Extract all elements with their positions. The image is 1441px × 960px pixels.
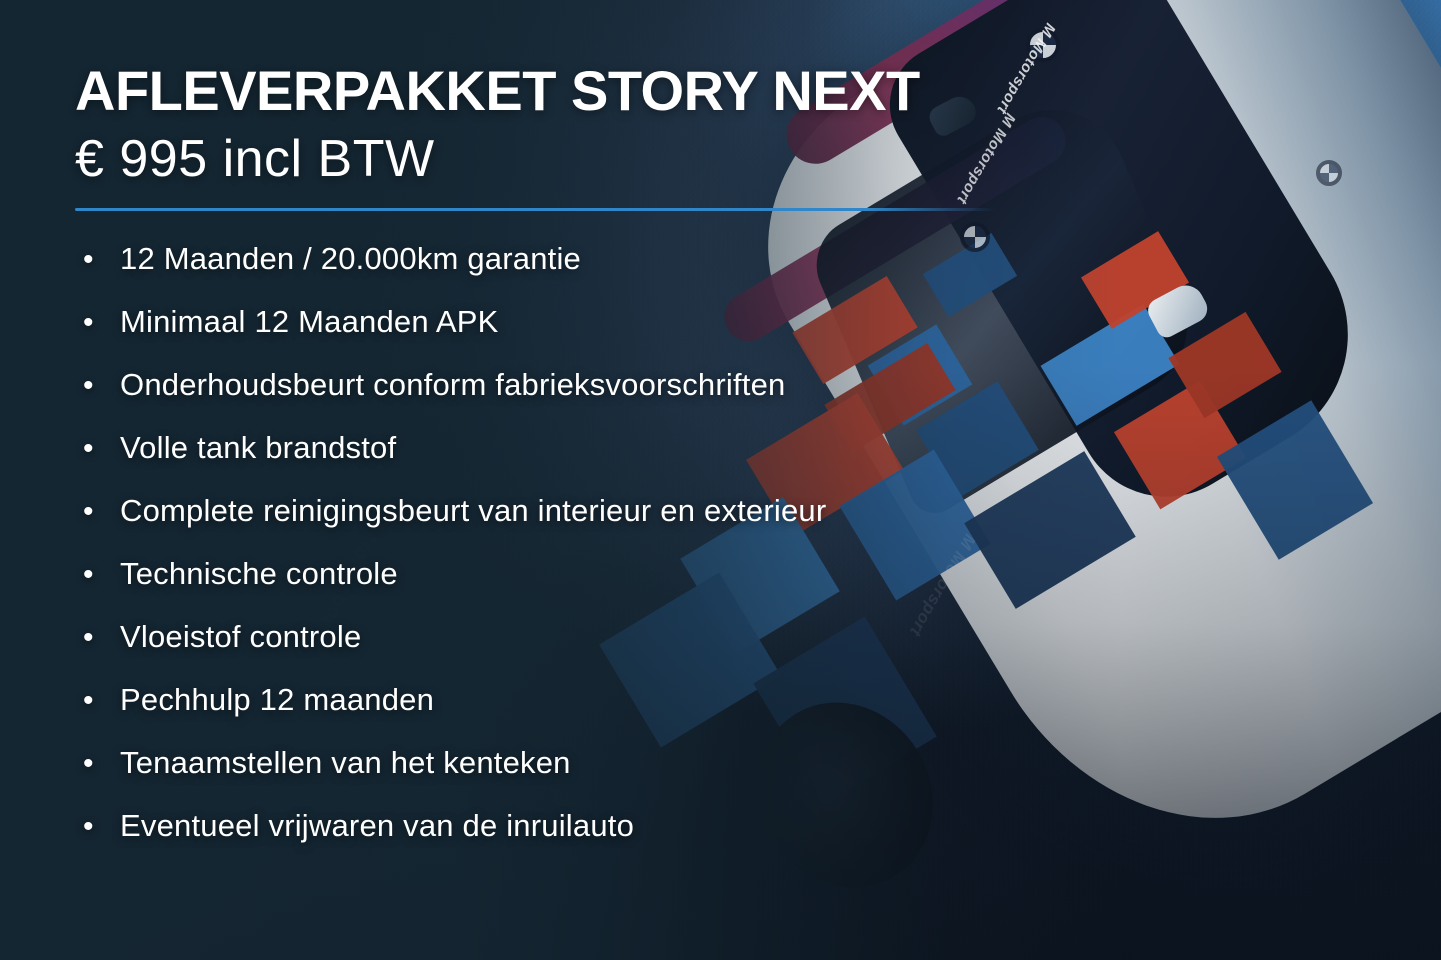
list-item: • Volle tank brandstof (75, 430, 1135, 493)
list-item: • Eventueel vrijwaren van de inruilauto (75, 808, 1135, 871)
package-feature-list: • 12 Maanden / 20.000km garantie • Minim… (75, 241, 1135, 871)
list-item-label: 12 Maanden / 20.000km garantie (120, 241, 581, 277)
bullet-dot-icon: • (75, 308, 120, 338)
list-item: • Tenaamstellen van het kenteken (75, 745, 1135, 808)
list-item: • Technische controle (75, 556, 1135, 619)
page-title: AFLEVERPAKKET STORY NEXT (75, 62, 1135, 119)
banner-content: AFLEVERPAKKET STORY NEXT € 995 incl BTW … (75, 62, 1135, 871)
list-item-label: Onderhoudsbeurt conform fabrieksvoorschr… (120, 367, 786, 403)
list-item-label: Minimaal 12 Maanden APK (120, 304, 499, 340)
delivery-package-banner: M Motorsport M Motorsport M Motorsport M… (0, 0, 1441, 960)
bullet-dot-icon: • (75, 623, 120, 653)
list-item-label: Vloeistof controle (120, 619, 361, 655)
list-item-label: Complete reinigingsbeurt van interieur e… (120, 493, 826, 529)
list-item: • 12 Maanden / 20.000km garantie (75, 241, 1135, 304)
bullet-dot-icon: • (75, 686, 120, 716)
bullet-dot-icon: • (75, 497, 120, 527)
list-item: • Pechhulp 12 maanden (75, 682, 1135, 745)
list-item-label: Tenaamstellen van het kenteken (120, 745, 571, 781)
price-label: € 995 incl BTW (75, 127, 1135, 192)
bullet-dot-icon: • (75, 245, 120, 275)
bullet-dot-icon: • (75, 371, 120, 401)
list-item: • Onderhoudsbeurt conform fabrieksvoorsc… (75, 367, 1135, 430)
divider (75, 208, 995, 211)
bullet-dot-icon: • (75, 749, 120, 779)
list-item: • Vloeistof controle (75, 619, 1135, 682)
bullet-dot-icon: • (75, 434, 120, 464)
list-item-label: Volle tank brandstof (120, 430, 396, 466)
list-item-label: Eventueel vrijwaren van de inruilauto (120, 808, 634, 844)
bullet-dot-icon: • (75, 560, 120, 590)
list-item: • Minimaal 12 Maanden APK (75, 304, 1135, 367)
list-item-label: Pechhulp 12 maanden (120, 682, 434, 718)
list-item: • Complete reinigingsbeurt van interieur… (75, 493, 1135, 556)
list-item-label: Technische controle (120, 556, 398, 592)
bullet-dot-icon: • (75, 812, 120, 842)
